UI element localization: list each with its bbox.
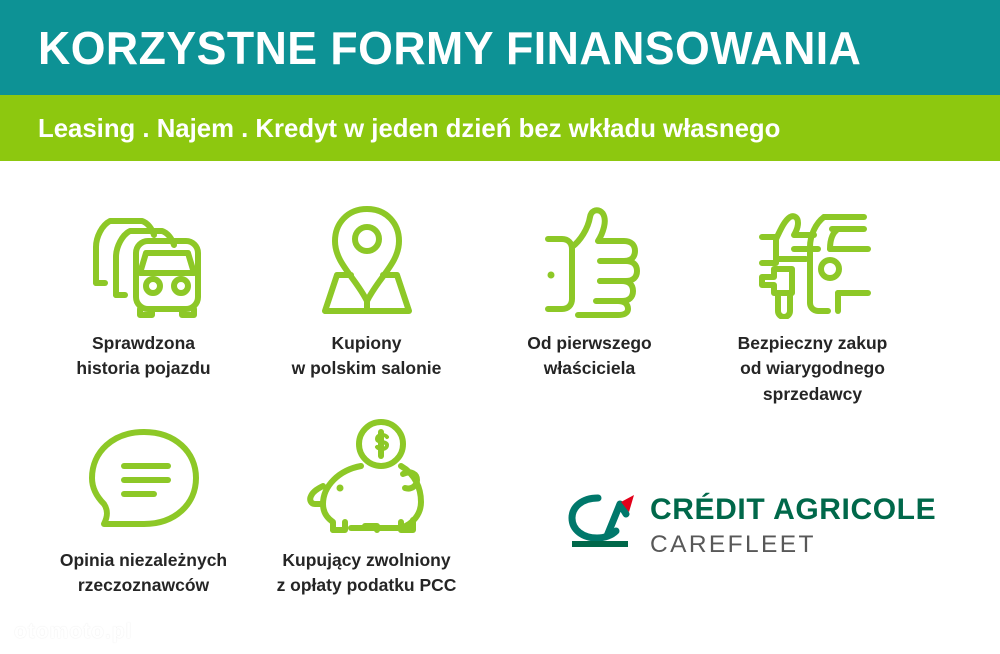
piggy-bank-icon (303, 416, 431, 536)
feature-polish-dealer: Kupiony w polskim salonie (259, 199, 474, 407)
credit-agricole-logo: CRÉDIT AGRICOLE CAREFLEET (566, 492, 936, 558)
feature-grid: Sprawdzona historia pojazdu Kupiony w (0, 161, 1000, 654)
feature-pcc-exempt: Kupujący zwolniony z opłaty podatku PCC (259, 416, 474, 599)
watermark: otomoto.pl (14, 620, 132, 644)
logo-brand-name: CRÉDIT AGRICOLE (650, 495, 936, 525)
feature-trusted-seller: Bezpieczny zakup od wiarygodnego sprzeda… (705, 199, 920, 407)
thumbs-up-icon (534, 199, 646, 319)
headline-band: KORZYSTNE FORMY FINANSOWANIA (0, 0, 1000, 95)
map-pin-icon (307, 199, 427, 319)
handshake-car-icon (748, 199, 878, 319)
feature-caption: Opinia niezależnych rzeczoznawców (60, 548, 227, 599)
feature-checked-history: Sprawdzona historia pojazdu (36, 199, 251, 407)
feature-caption: Sprawdzona historia pojazdu (76, 331, 210, 382)
three-cars-icon (78, 199, 210, 319)
feature-caption: Kupiony w polskim salonie (292, 331, 442, 382)
feature-row-top: Sprawdzona historia pojazdu Kupiony w (0, 199, 1000, 407)
feature-caption: Bezpieczny zakup od wiarygodnego sprzeda… (738, 331, 888, 407)
logo-wordmark: CRÉDIT AGRICOLE CAREFLEET (650, 492, 936, 558)
feature-first-owner: Od pierwszego właściciela (482, 199, 697, 407)
promo-banner: KORZYSTNE FORMY FINANSOWANIA Leasing . N… (0, 0, 1000, 654)
feature-caption: Od pierwszego właściciela (527, 331, 651, 382)
subtitle-band: Leasing . Najem . Kredyt w jeden dzień b… (0, 95, 1000, 161)
logo-sub-brand: CAREFLEET (650, 533, 936, 558)
credit-agricole-ca-monogram-icon (566, 492, 638, 550)
page-title: KORZYSTNE FORMY FINANSOWANIA (38, 21, 861, 75)
feature-caption: Kupujący zwolniony z opłaty podatku PCC (277, 548, 457, 599)
feature-expert-opinion: Opinia niezależnych rzeczoznawców (36, 416, 251, 599)
speech-bubble-icon (82, 416, 206, 536)
page-subtitle: Leasing . Najem . Kredyt w jeden dzień b… (38, 113, 780, 144)
